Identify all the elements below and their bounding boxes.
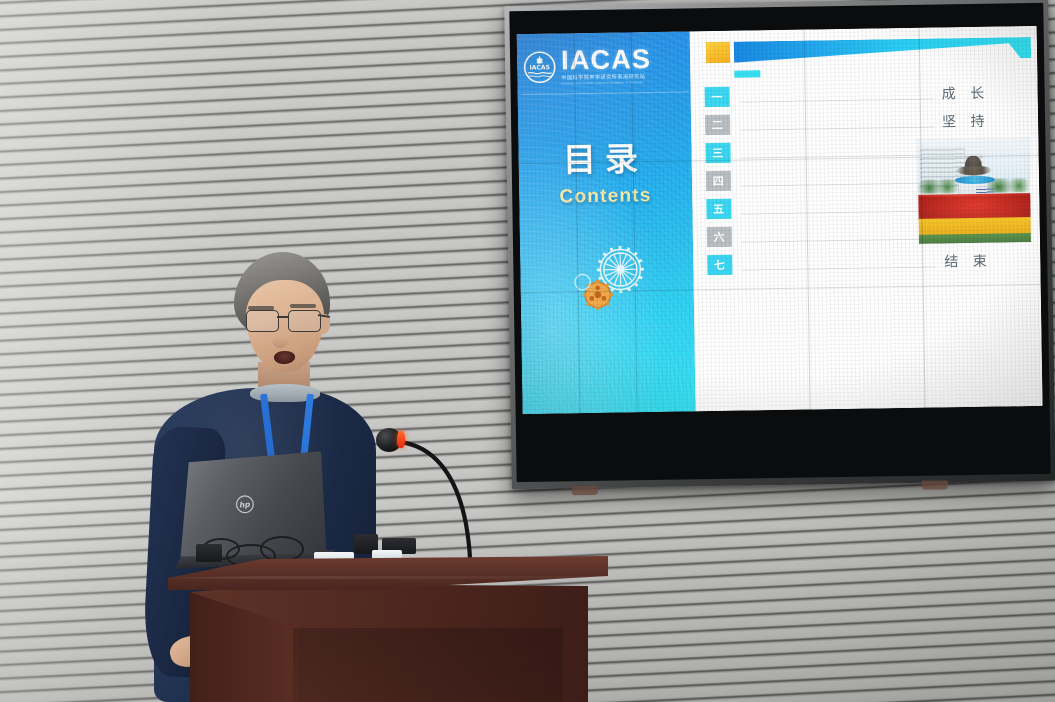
iacas-emblem-icon: IACAS [523,50,557,84]
svg-text:hp: hp [239,500,251,510]
toc-title-chinese: 目录 [518,131,691,182]
speaker-glasses-icon [244,310,328,332]
slide-right-panel: 一 成 长 二 坚 持 三 认 真 [689,26,1042,411]
speaker-nose [272,330,288,348]
toc-number-badge: 六 [706,226,731,246]
glasses-bridge [277,316,288,318]
brand-divider [522,91,689,95]
toc-leader-line [739,99,933,103]
display-stand-foot [572,486,598,495]
toc-leader-line [741,183,935,187]
toc-number-badge: 七 [707,254,732,274]
led-pixel-grid [517,31,696,414]
hp-logo-icon: hp [235,494,255,514]
toc-item-label: 坚 持 [942,110,1028,131]
accent-square [705,42,729,63]
display-panel[interactable]: IACAS IACAS 中国科学院声学研究所南海研究站 Institute of… [517,26,1043,414]
toc-row[interactable]: 一 成 长 [704,78,1028,110]
wooden-lectern [168,556,608,702]
accent-small-bar [734,70,760,77]
lectern-top-surface [168,556,608,590]
toc-item-label: 成 长 [941,82,1027,103]
toc-number-badge: 四 [705,170,730,190]
toc-leader-line [740,155,934,159]
toc-number-badge: 二 [705,114,730,134]
toc-title-english: Contents [519,184,692,209]
brand-acronym: IACAS [561,46,651,74]
gears-decoration-icon [564,237,665,319]
brand-lockup: IACAS IACAS 中国科学院声学研究所南海研究站 Institute of… [523,45,686,86]
mic-indicator-light [397,431,405,448]
campus-statue-photo [917,138,1031,244]
toc-number-badge: 一 [704,86,729,106]
led-wall-display[interactable]: IACAS IACAS 中国科学院声学研究所南海研究站 Institute of… [504,0,1055,489]
glasses-lens [288,310,321,332]
toc-leader-line [742,239,936,243]
toc-number-badge: 三 [705,142,730,162]
toc-row[interactable]: 七 结 束 [707,246,1031,278]
speaker-eyebrow [290,304,316,308]
brand-english-name: Institute of Acoustics, Chinese Academy … [561,81,651,86]
presentation-scene: IACAS IACAS 中国科学院声学研究所南海研究站 Institute of… [0,0,1055,702]
toc-leader-line [742,267,936,271]
toc-leader-line [740,127,934,131]
accent-bar [733,37,1031,63]
presentation-slide: IACAS IACAS 中国科学院声学研究所南海研究站 Institute of… [517,26,1043,414]
toc-leader-line [741,211,935,215]
brand-text-block: IACAS 中国科学院声学研究所南海研究站 Institute of Acous… [561,46,652,86]
toc-item-label: 结 束 [944,250,1030,271]
svg-text:IACAS: IACAS [529,64,550,71]
slide-left-panel: IACAS IACAS 中国科学院声学研究所南海研究站 Institute of… [517,31,696,414]
glasses-lens [246,310,279,332]
display-stand-foot [922,480,948,489]
lectern-front-panel [293,628,563,702]
toc-row[interactable]: 二 坚 持 [705,106,1029,138]
toc-title-block: 目录 Contents [518,131,692,209]
ripple-texture [517,31,696,414]
toc-number-badge: 五 [706,198,731,218]
